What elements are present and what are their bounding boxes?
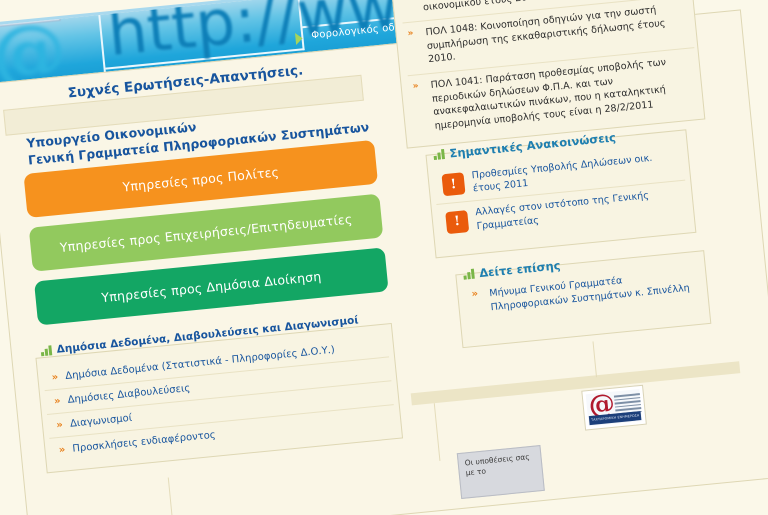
tooltip-note: Οι υποθέσεις σας με το bbox=[457, 445, 545, 499]
bar-chart-icon bbox=[433, 149, 445, 160]
web-page: @ http://www On Line Υπηρεσίες Φορολογικ… bbox=[0, 0, 768, 515]
mail-banner-inner: @ ΤΑΧΥΔΡΟΜΙΚΗ ΕΝΗΜΕΡΩΣΗ bbox=[586, 389, 643, 426]
public-data-link[interactable]: Διαγωνισμοί bbox=[70, 413, 133, 430]
screenshot-stage: @ http://www On Line Υπηρεσίες Φορολογικ… bbox=[0, 0, 768, 515]
chevron-right-icon: » bbox=[463, 288, 486, 301]
warning-icon: ! bbox=[441, 172, 465, 196]
chevron-right-icon: » bbox=[48, 419, 71, 432]
chevron-right-icon: » bbox=[403, 0, 409, 2]
bar-chart-icon bbox=[463, 269, 475, 280]
chevron-right-icon: » bbox=[45, 395, 68, 408]
chevron-right-icon: » bbox=[412, 80, 418, 93]
arrow-right-icon bbox=[295, 32, 303, 45]
warning-icon: ! bbox=[445, 210, 469, 234]
chevron-right-icon: » bbox=[407, 28, 413, 41]
chevron-right-icon: » bbox=[43, 371, 66, 384]
mail-newsletter-banner[interactable]: @ ΤΑΧΥΔΡΟΜΙΚΗ ΕΝΗΜΕΡΩΣΗ bbox=[581, 385, 647, 431]
bar-chart-icon bbox=[40, 345, 52, 356]
chevron-right-icon: » bbox=[50, 443, 73, 456]
